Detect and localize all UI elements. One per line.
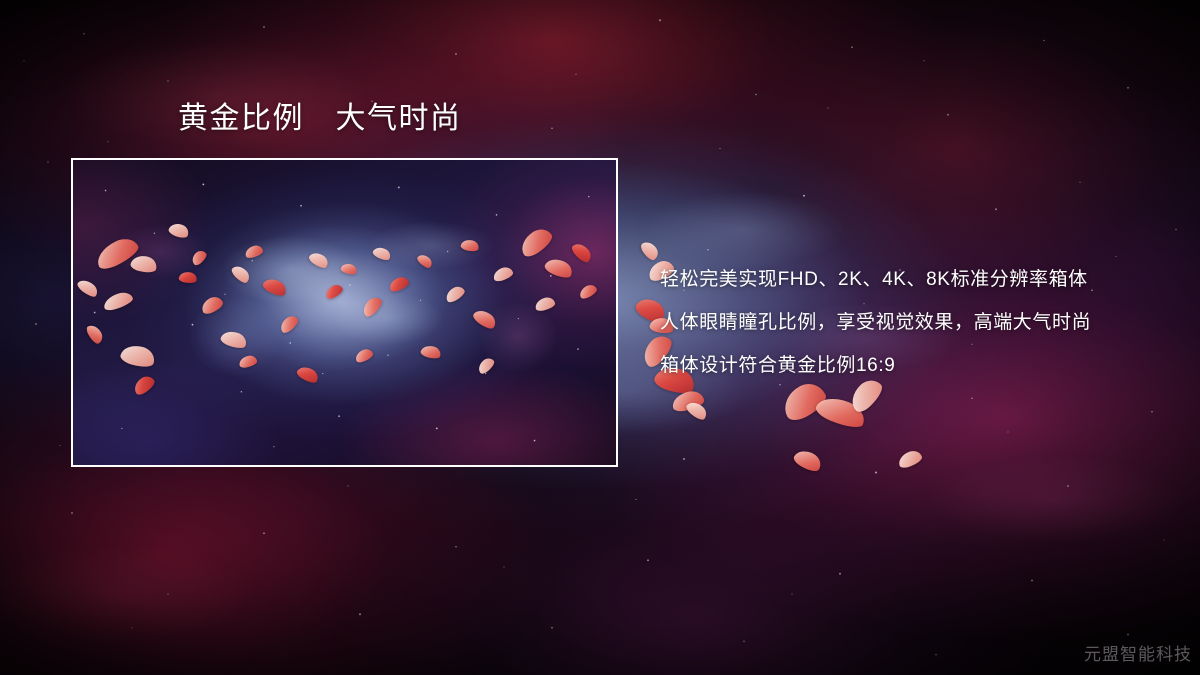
body-line-3: 箱体设计符合黄金比例16:9 (660, 344, 1180, 387)
watermark-label: 元盟智能科技 (1084, 640, 1192, 665)
framed-image-panel (71, 158, 618, 467)
body-line-1: 轻松完美实现FHD、2K、4K、8K标准分辨率箱体 (660, 258, 1180, 301)
presentation-slide: 黄金比例 大气时尚 轻松完美实现FHD、2K、4K、8K标准分辨率箱体 人体眼睛… (0, 0, 1200, 675)
body-text-block: 轻松完美实现FHD、2K、4K、8K标准分辨率箱体 人体眼睛瞳孔比例，享受视觉效… (660, 258, 1180, 387)
panel-starfield (73, 160, 616, 465)
slide-title: 黄金比例 大气时尚 (178, 100, 462, 138)
body-line-2: 人体眼睛瞳孔比例，享受视觉效果，高端大气时尚 (660, 301, 1180, 344)
